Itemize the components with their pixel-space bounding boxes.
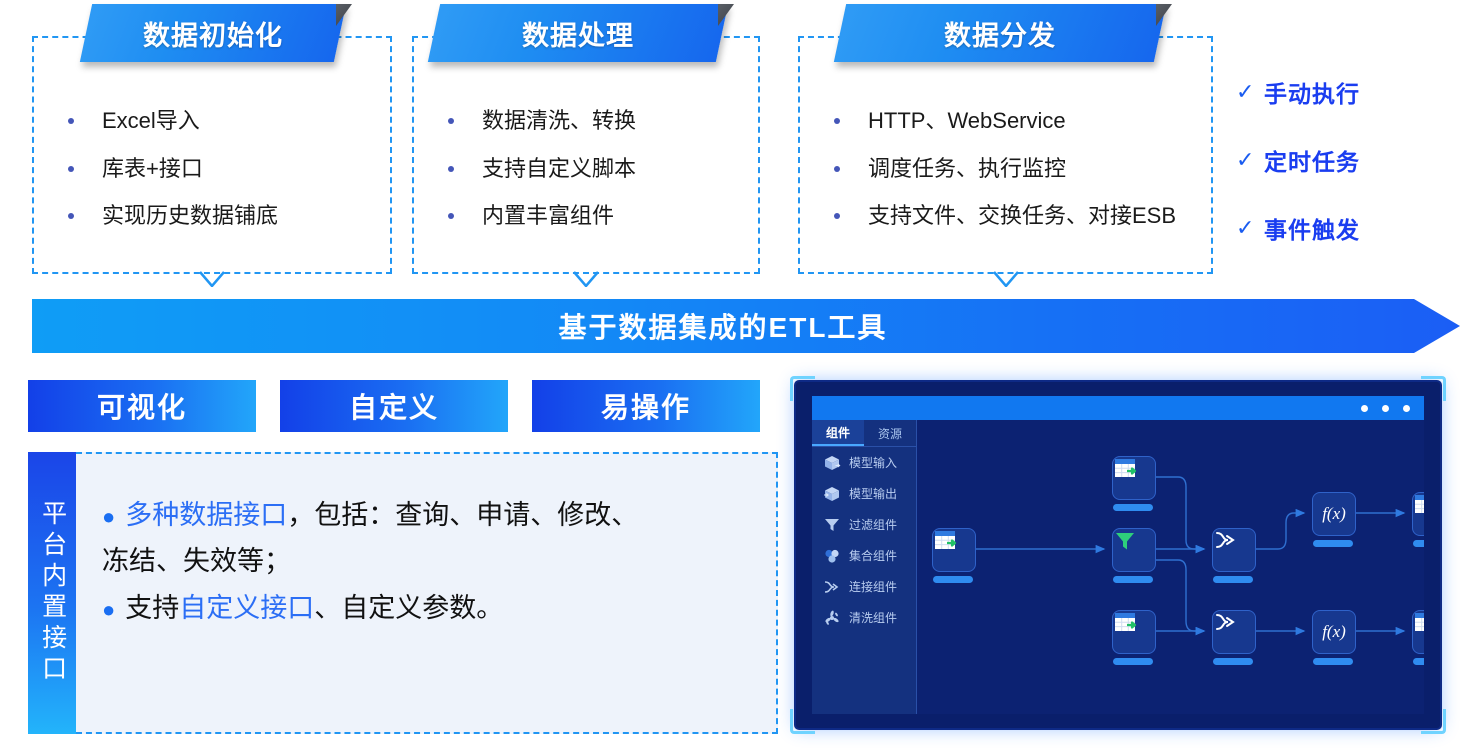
- node-label-bar: [1213, 658, 1253, 665]
- list-item-label: HTTP、WebService: [868, 106, 1066, 136]
- plain-text: 支持: [125, 593, 179, 623]
- bullet-dot: [68, 213, 74, 219]
- list-item: 库表+接口: [34, 154, 390, 184]
- list-item-label: 实现历史数据铺底: [102, 201, 278, 231]
- sidebar-item-label: 清洗组件: [849, 609, 897, 626]
- fx-icon: f(x): [1322, 504, 1346, 524]
- etl-banner: 基于数据集成的ETL工具: [32, 299, 1460, 353]
- sidebar-item-filter[interactable]: 过滤组件: [812, 509, 916, 540]
- card-ribbon: 数据处理: [434, 4, 722, 62]
- plain-text: 冻结、失效等；: [102, 546, 291, 576]
- card-ribbon: 数据分发: [840, 4, 1160, 62]
- builtin-interface-box: 平台内置接口 ●多种数据接口，包括：查询、申请、修改、 冻结、失效等； ●支持自…: [28, 452, 778, 734]
- window-dot-icon: [1382, 405, 1389, 412]
- sidebar-item-model-output[interactable]: 模型输出: [812, 478, 916, 509]
- sidebar-item-join[interactable]: 连接组件: [812, 571, 916, 602]
- funnel-icon: [1113, 529, 1137, 553]
- window-dot-icon: [1361, 405, 1368, 412]
- window-dot-icon: [1403, 405, 1410, 412]
- bullet-dot: [448, 118, 454, 124]
- card-data-distribution: 数据分发 HTTP、WebService 调度任务、执行监控 支持文件、交换任务…: [798, 36, 1213, 274]
- list-item-label: 支持文件、交换任务、对接ESB: [868, 201, 1176, 231]
- card-data-processing: 数据处理 数据清洗、转换 支持自定义脚本 内置丰富组件: [412, 36, 760, 274]
- join-arrow-icon: [1213, 529, 1239, 551]
- etl-app-screenshot: 组件 资源 模型输入: [790, 376, 1446, 734]
- bullet-dot-icon: ●: [102, 597, 115, 622]
- sidebar-item-model-input[interactable]: 模型输入: [812, 447, 916, 478]
- list-item: 数据清洗、转换: [414, 106, 758, 136]
- card-bullet-list: Excel导入 库表+接口 实现历史数据铺底: [34, 106, 390, 249]
- flow-node-table[interactable]: [1412, 492, 1424, 536]
- card-title: 数据处理: [434, 4, 722, 62]
- flow-canvas[interactable]: f(x) f(x): [916, 420, 1424, 714]
- node-label-bar: [1113, 658, 1153, 665]
- card-bullet-list: HTTP、WebService 调度任务、执行监控 支持文件、交换任务、对接ES…: [800, 106, 1211, 249]
- sidebar-item-label: 模型输出: [849, 485, 897, 502]
- plain-text: ，包括：查询、申请、修改、: [287, 500, 638, 530]
- node-label-bar: [1113, 576, 1153, 583]
- tag-ease-of-use: 易操作: [532, 380, 760, 432]
- node-label-bar: [1213, 576, 1253, 583]
- banner-title: 基于数据集成的ETL工具: [559, 306, 888, 346]
- checklist-item: ✓ 手动执行: [1236, 58, 1436, 126]
- node-label-bar: [1413, 658, 1424, 665]
- list-item-label: Excel导入: [102, 106, 200, 136]
- plain-text: 、自定义参数。: [314, 593, 503, 623]
- node-label-bar: [1313, 540, 1353, 547]
- interface-line: ●多种数据接口，包括：查询、申请、修改、: [102, 492, 776, 538]
- tab-resources[interactable]: 资源: [864, 420, 916, 446]
- card-title: 数据初始化: [86, 4, 340, 62]
- list-item-label: 数据清洗、转换: [482, 106, 636, 136]
- table-icon: [1113, 611, 1139, 635]
- sidebar-item-label: 集合组件: [849, 547, 897, 564]
- sidebar-item-set[interactable]: 集合组件: [812, 540, 916, 571]
- set-union-icon: [822, 547, 842, 565]
- cube-out-icon: [822, 485, 842, 503]
- tag-customization: 自定义: [280, 380, 508, 432]
- bullet-dot: [448, 213, 454, 219]
- app-body: 组件 资源 模型输入: [812, 420, 1424, 714]
- tag-label: 可视化: [97, 386, 187, 426]
- bullet-dot: [834, 118, 840, 124]
- table-icon: [1113, 457, 1139, 481]
- card-bullet-list: 数据清洗、转换 支持自定义脚本 内置丰富组件: [414, 106, 758, 249]
- flow-node-table[interactable]: [1412, 610, 1424, 654]
- sidebar-item-label: 模型输入: [849, 454, 897, 471]
- list-item: Excel导入: [34, 106, 390, 136]
- sidebar-item-label: 连接组件: [849, 578, 897, 595]
- highlight-text: 自定义接口: [179, 593, 314, 623]
- list-item-label: 调度任务、执行监控: [868, 154, 1066, 184]
- join-arrow-icon: [822, 578, 842, 596]
- sidebar-item-clean[interactable]: 清洗组件: [812, 602, 916, 633]
- flow-node-join[interactable]: [1212, 610, 1256, 654]
- flow-node-table[interactable]: [1112, 456, 1156, 500]
- node-label-bar: [933, 576, 973, 583]
- card-title: 数据分发: [840, 4, 1160, 62]
- sidebar-tabs: 组件 资源: [812, 420, 916, 447]
- corner-bracket-icon: [790, 709, 815, 734]
- tag-label: 易操作: [601, 386, 691, 426]
- flow-edges: [916, 420, 1424, 710]
- checklist-item: ✓ 事件触发: [1236, 194, 1436, 262]
- sidebar-item-label: 过滤组件: [849, 516, 897, 533]
- check-icon: ✓: [1236, 147, 1264, 173]
- flow-node-function[interactable]: f(x): [1312, 492, 1356, 536]
- list-item: 支持文件、交换任务、对接ESB: [800, 201, 1211, 231]
- app-titlebar: [812, 396, 1424, 420]
- corner-bracket-icon: [1421, 709, 1446, 734]
- flow-node-function[interactable]: f(x): [1312, 610, 1356, 654]
- bullet-dot: [834, 213, 840, 219]
- bullet-dot-icon: ●: [102, 504, 115, 529]
- table-icon: [933, 529, 959, 553]
- list-item-label: 支持自定义脚本: [482, 154, 636, 184]
- component-sidebar: 组件 资源 模型输入: [812, 420, 917, 714]
- interface-line: ●支持自定义接口、自定义参数。: [102, 585, 776, 631]
- corner-bracket-icon: [790, 376, 815, 401]
- list-item-label: 内置丰富组件: [482, 201, 614, 231]
- trigger-checklist: ✓ 手动执行 ✓ 定时任务 ✓ 事件触发: [1236, 58, 1436, 262]
- flow-node-table[interactable]: [1112, 610, 1156, 654]
- node-label-bar: [1413, 540, 1424, 547]
- list-item-label: 库表+接口: [102, 154, 203, 184]
- list-item: 内置丰富组件: [414, 201, 758, 231]
- node-label-bar: [1113, 504, 1153, 511]
- bullet-dot: [834, 166, 840, 172]
- tag-label: 自定义: [349, 386, 439, 426]
- checklist-item-label: 事件触发: [1264, 211, 1360, 245]
- bullet-dot: [448, 166, 454, 172]
- down-notch-icon: [199, 271, 225, 287]
- vertical-label-strip: 平台内置接口: [28, 452, 76, 734]
- corner-bracket-icon: [1421, 376, 1446, 401]
- list-item: 支持自定义脚本: [414, 154, 758, 184]
- cube-in-icon: [822, 454, 842, 472]
- bullet-dot: [68, 118, 74, 124]
- card-ribbon: 数据初始化: [86, 4, 340, 62]
- vertical-label: 平台内置接口: [36, 500, 67, 686]
- list-item: 实现历史数据铺底: [34, 201, 390, 231]
- card-data-initialization: 数据初始化 Excel导入 库表+接口 实现历史数据铺底: [32, 36, 392, 274]
- tag-visualization: 可视化: [28, 380, 256, 432]
- slide-root: 数据初始化 Excel导入 库表+接口 实现历史数据铺底 数据处理 数据清洗、转…: [0, 0, 1468, 750]
- app-frame: 组件 资源 模型输入: [796, 382, 1440, 728]
- down-notch-icon: [993, 271, 1019, 287]
- sparkle-clean-icon: [822, 609, 842, 627]
- funnel-icon: [822, 516, 842, 534]
- table-icon: [1413, 611, 1424, 635]
- table-icon: [1413, 493, 1424, 517]
- join-arrow-icon: [1213, 611, 1239, 633]
- interface-line: 冻结、失效等；: [102, 538, 776, 584]
- bullet-dot: [68, 166, 74, 172]
- checklist-item-label: 手动执行: [1264, 75, 1360, 109]
- checklist-item-label: 定时任务: [1264, 143, 1360, 177]
- highlight-text: 多种数据接口: [125, 500, 287, 530]
- tab-components[interactable]: 组件: [812, 420, 864, 446]
- flow-node-table[interactable]: [932, 528, 976, 572]
- list-item: HTTP、WebService: [800, 106, 1211, 136]
- interface-box-body: ●多种数据接口，包括：查询、申请、修改、 冻结、失效等； ●支持自定义接口、自定…: [76, 452, 778, 734]
- flow-node-join[interactable]: [1212, 528, 1256, 572]
- flow-node-filter[interactable]: [1112, 528, 1156, 572]
- fx-icon: f(x): [1322, 622, 1346, 642]
- check-icon: ✓: [1236, 215, 1264, 241]
- list-item: 调度任务、执行监控: [800, 154, 1211, 184]
- checklist-item: ✓ 定时任务: [1236, 126, 1436, 194]
- node-label-bar: [1313, 658, 1353, 665]
- check-icon: ✓: [1236, 79, 1264, 105]
- down-notch-icon: [573, 271, 599, 287]
